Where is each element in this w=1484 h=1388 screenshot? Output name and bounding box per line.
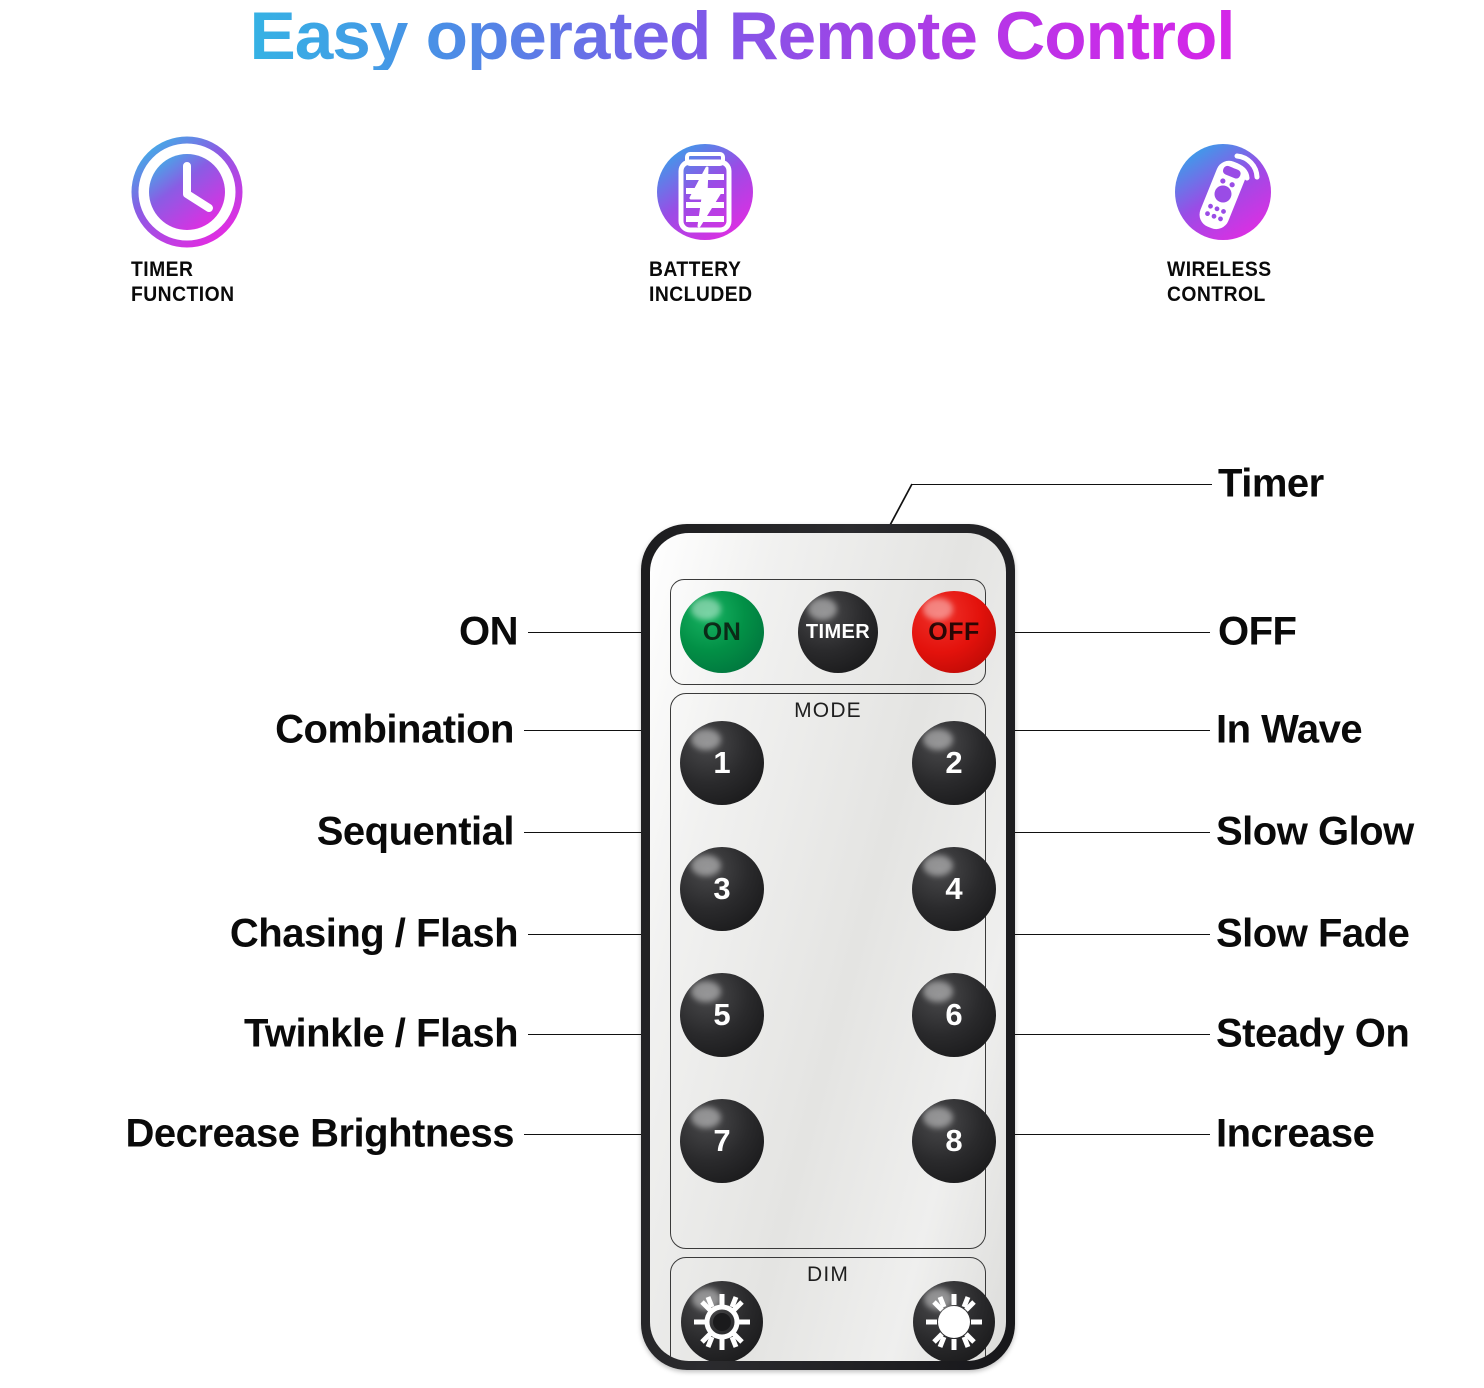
decrease-brightness-button[interactable] <box>681 1281 763 1361</box>
callout-off: OFF <box>1218 610 1296 655</box>
callout-decrease-brightness: Decrease Brightness <box>126 1112 514 1157</box>
mode-button-1[interactable]: 1 <box>680 721 764 805</box>
sun-bright-icon <box>922 1290 986 1354</box>
mode-panel-title: MODE <box>671 699 985 723</box>
callout-on: ON <box>459 610 518 655</box>
callout-increase: Increase <box>1216 1112 1374 1157</box>
feature-battery-included: BATTERY INCLUDED <box>627 136 857 308</box>
mode-button-6[interactable]: 6 <box>912 973 996 1057</box>
mode-button-3[interactable]: 3 <box>680 847 764 931</box>
mode-button-4[interactable]: 4 <box>912 847 996 931</box>
on-button[interactable]: ON <box>680 591 764 673</box>
mode-button-2[interactable]: 2 <box>912 721 996 805</box>
callout-steady-on: Steady On <box>1216 1012 1409 1057</box>
leader-line-timer-h <box>912 484 1212 485</box>
clock-icon <box>131 136 243 248</box>
timer-button[interactable]: TIMER <box>798 591 878 673</box>
battery-icon <box>649 136 761 248</box>
remote-faceplate: ON TIMER OFF MODE 1 2 3 4 5 6 7 8 DIM <box>650 533 1006 1361</box>
increase-brightness-button[interactable] <box>913 1281 995 1361</box>
feature-label: BATTERY INCLUDED <box>649 258 753 308</box>
callout-chasing-flash: Chasing / Flash <box>230 912 518 957</box>
callout-slow-glow: Slow Glow <box>1216 810 1414 855</box>
remote-icon <box>1167 136 1279 248</box>
mode-button-7[interactable]: 7 <box>680 1099 764 1183</box>
remote-control-device: ON TIMER OFF MODE 1 2 3 4 5 6 7 8 DIM <box>641 524 1015 1370</box>
page-title: Easy operated Remote Control <box>0 2 1484 70</box>
callout-timer: Timer <box>1218 462 1324 507</box>
feature-wireless-control: WIRELESS CONTROL <box>1145 136 1375 308</box>
callout-twinkle-flash: Twinkle / Flash <box>244 1012 518 1057</box>
callout-sequential: Sequential <box>317 810 514 855</box>
feature-label: TIMER FUNCTION <box>131 258 235 308</box>
callout-in-wave: In Wave <box>1216 708 1362 753</box>
mode-button-8[interactable]: 8 <box>912 1099 996 1183</box>
off-button[interactable]: OFF <box>912 591 996 673</box>
feature-label: WIRELESS CONTROL <box>1167 258 1272 308</box>
callout-combination: Combination <box>275 708 514 753</box>
mode-button-5[interactable]: 5 <box>680 973 764 1057</box>
feature-badge-row: TIMER FUNCTION <box>0 136 1484 308</box>
feature-timer-function: TIMER FUNCTION <box>109 136 339 308</box>
callout-slow-fade: Slow Fade <box>1216 912 1409 957</box>
sun-dim-icon <box>690 1290 754 1354</box>
